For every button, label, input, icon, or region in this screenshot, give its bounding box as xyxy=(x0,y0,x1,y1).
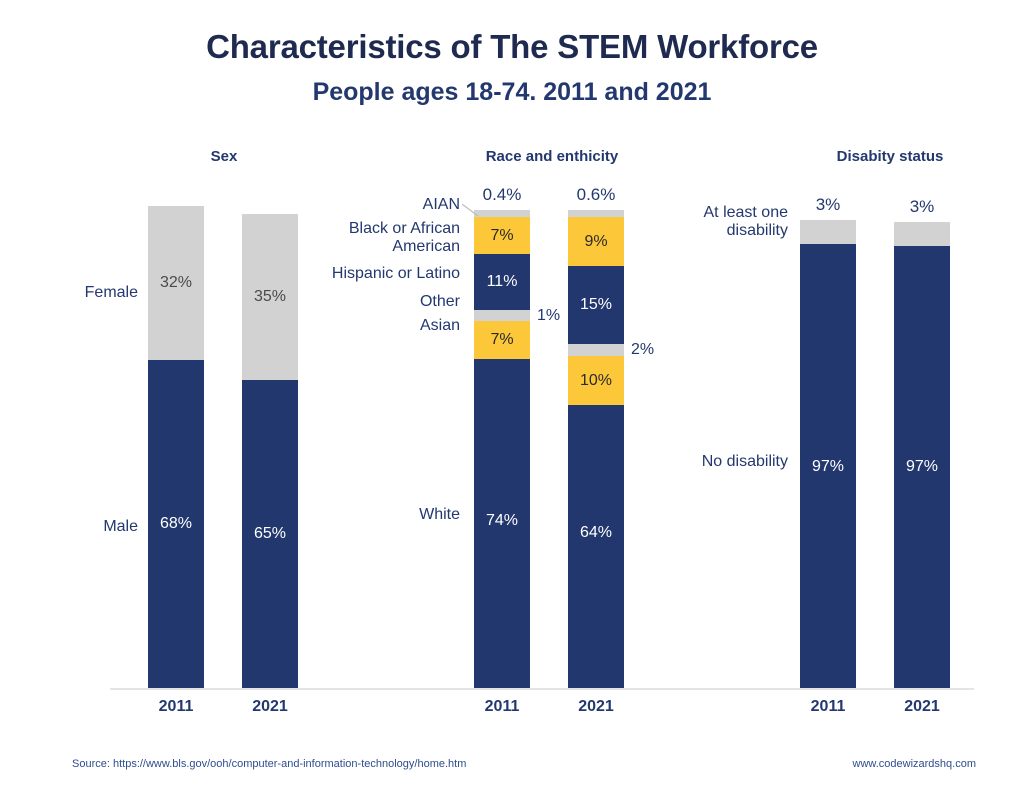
bar-disability-2021[interactable]: 3% 97% xyxy=(894,222,950,688)
segment-race-2011-hispanic[interactable]: 11% xyxy=(474,254,530,310)
segment-value-disability-2011-none: 97% xyxy=(812,459,844,475)
axis-baseline xyxy=(110,688,974,690)
segment-sex-2021-female[interactable]: 35% xyxy=(242,214,298,380)
segment-race-2021-hispanic[interactable]: 15% xyxy=(568,266,624,344)
chart-plot-area: 32% 68% 35% 65% 0.4% 7% 11% 1% 7% 74% xyxy=(0,0,1024,797)
category-label-male: Male xyxy=(10,518,138,536)
segment-value-race-2011-asian: 7% xyxy=(490,332,513,348)
category-label-black-or-african-american: Black or African American xyxy=(300,220,460,256)
segment-race-2021-white[interactable]: 64% xyxy=(568,405,624,688)
x-tick-race-2021: 2021 xyxy=(568,698,624,716)
segment-value-sex-2021-male: 65% xyxy=(254,526,286,542)
segment-value-race-2021-hispanic: 15% xyxy=(580,297,612,313)
segment-value-sex-2021-female: 35% xyxy=(254,289,286,305)
x-tick-race-2011: 2011 xyxy=(474,698,530,716)
x-tick-sex-2011: 2011 xyxy=(148,698,204,716)
category-label-white: White xyxy=(300,506,460,524)
aian-leader-line-icon xyxy=(462,204,478,216)
segment-race-2011-aian[interactable]: 0.4% xyxy=(474,210,530,217)
segment-value-race-2011-other: 1% xyxy=(537,307,560,325)
bar-race-2021[interactable]: 0.6% 9% 15% 2% 10% 64% xyxy=(568,210,624,688)
bar-disability-2011[interactable]: 3% 97% xyxy=(800,220,856,688)
segment-disability-2011-atleastone[interactable]: 3% xyxy=(800,220,856,244)
segment-value-race-2011-aian: 0.4% xyxy=(483,185,522,205)
segment-value-race-2021-asian: 10% xyxy=(580,373,612,389)
segment-sex-2011-female[interactable]: 32% xyxy=(148,206,204,360)
segment-value-sex-2011-male: 68% xyxy=(160,516,192,532)
bar-sex-2021[interactable]: 35% 65% xyxy=(242,214,298,688)
segment-value-race-2021-other: 2% xyxy=(631,341,654,359)
category-label-hispanic-or-latino: Hispanic or Latino xyxy=(300,265,460,283)
segment-disability-2021-atleastone[interactable]: 3% xyxy=(894,222,950,246)
segment-disability-2021-none[interactable]: 97% xyxy=(894,246,950,688)
segment-value-race-2021-black: 9% xyxy=(584,234,607,250)
segment-race-2021-black[interactable]: 9% xyxy=(568,217,624,267)
category-label-female: Female xyxy=(10,284,138,302)
bar-sex-2011[interactable]: 32% 68% xyxy=(148,206,204,688)
segment-race-2011-white[interactable]: 74% xyxy=(474,359,530,688)
segment-value-disability-2011-atleastone: 3% xyxy=(816,195,841,215)
segment-race-2021-asian[interactable]: 10% xyxy=(568,356,624,405)
category-label-at-least-one-disability: At least one disability xyxy=(650,204,788,240)
segment-race-2011-asian[interactable]: 7% xyxy=(474,321,530,359)
bar-race-2011[interactable]: 0.4% 7% 11% 1% 7% 74% xyxy=(474,210,530,688)
segment-value-disability-2021-atleastone: 3% xyxy=(910,197,935,217)
segment-race-2011-black[interactable]: 7% xyxy=(474,217,530,255)
segment-race-2011-other[interactable]: 1% xyxy=(474,310,530,321)
footer-website-text: www.codewizardshq.com xyxy=(853,758,977,770)
segment-race-2021-aian[interactable]: 0.6% xyxy=(568,210,624,217)
segment-value-race-2011-hispanic: 11% xyxy=(487,274,518,290)
category-label-other: Other xyxy=(300,293,460,311)
segment-value-sex-2011-female: 32% xyxy=(160,275,192,291)
segment-disability-2011-none[interactable]: 97% xyxy=(800,244,856,688)
x-tick-disability-2021: 2021 xyxy=(894,698,950,716)
segment-race-2021-other[interactable]: 2% xyxy=(568,344,624,356)
segment-sex-2021-male[interactable]: 65% xyxy=(242,380,298,688)
x-tick-disability-2011: 2011 xyxy=(800,698,856,716)
footer-source-text: Source: https://www.bls.gov/ooh/computer… xyxy=(72,758,466,770)
segment-value-race-2021-white: 64% xyxy=(580,525,612,541)
category-label-no-disability: No disability xyxy=(650,453,788,471)
x-tick-sex-2021: 2021 xyxy=(242,698,298,716)
segment-value-disability-2021-none: 97% xyxy=(906,459,938,475)
segment-value-race-2021-aian: 0.6% xyxy=(577,185,616,205)
segment-value-race-2011-white: 74% xyxy=(486,513,518,529)
category-label-asian: Asian xyxy=(300,317,460,335)
category-label-aian: AIAN xyxy=(300,196,460,214)
segment-sex-2011-male[interactable]: 68% xyxy=(148,360,204,688)
segment-value-race-2011-black: 7% xyxy=(490,228,513,244)
